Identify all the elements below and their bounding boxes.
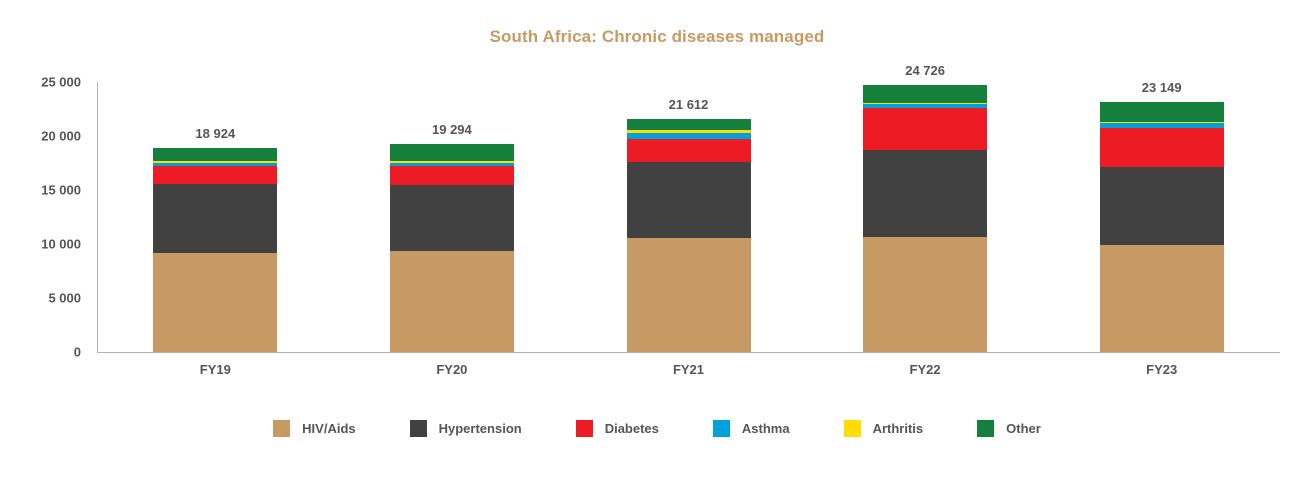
y-axis-tick-label: 5 000 [0,291,81,306]
y-axis-tick-label: 15 000 [0,183,81,198]
legend-item-asthma[interactable]: Asthma [713,420,790,437]
bar-segment-other[interactable] [153,148,277,161]
bar-group: 21 612 [627,82,751,352]
bar-segment-other[interactable] [1100,102,1224,122]
stacked-bar[interactable] [1100,102,1224,352]
stacked-bar[interactable] [627,119,751,352]
bar-segment-hypertension[interactable] [153,184,277,253]
legend-item-hiv-aids[interactable]: HIV/Aids [273,420,355,437]
bar-segment-hiv-aids[interactable] [153,253,277,352]
legend-label-hiv-aids: HIV/Aids [302,421,355,436]
bar-total-label: 21 612 [669,97,709,112]
bar-segment-diabetes[interactable] [863,108,987,150]
legend-swatch-asthma [713,420,730,437]
legend-label-diabetes: Diabetes [605,421,659,436]
bar-segment-other[interactable] [390,144,514,161]
x-axis-label-fy19: FY19 [97,362,334,377]
bar-segment-diabetes[interactable] [627,139,751,162]
stacked-bar[interactable] [390,144,514,352]
bar-group: 19 294 [390,82,514,352]
bar-segment-other[interactable] [863,85,987,103]
legend-item-arthritis[interactable]: Arthritis [844,420,924,437]
bar-total-label: 23 149 [1142,80,1182,95]
bar-group: 24 726 [863,82,987,352]
legend-label-other: Other [1006,421,1041,436]
bar-segment-hypertension[interactable] [390,185,514,251]
bar-segment-hiv-aids[interactable] [1100,245,1224,352]
x-axis-label-fy22: FY22 [807,362,1044,377]
bar-total-label: 18 924 [195,126,235,141]
bar-total-label: 24 726 [905,63,945,78]
bar-segment-hiv-aids[interactable] [863,237,987,352]
x-axis-label-fy23: FY23 [1043,362,1280,377]
bar-segment-diabetes[interactable] [390,166,514,184]
chart-legend: HIV/AidsHypertensionDiabetesAsthmaArthri… [0,420,1314,437]
bar-segment-hypertension[interactable] [1100,167,1224,245]
legend-swatch-hiv-aids [273,420,290,437]
chart-title: South Africa: Chronic diseases managed [0,27,1314,47]
bar-segment-other[interactable] [627,119,751,130]
legend-swatch-arthritis [844,420,861,437]
bar-group: 18 924 [153,82,277,352]
y-axis-tick-label: 10 000 [0,237,81,252]
bar-total-label: 19 294 [432,122,472,137]
legend-item-diabetes[interactable]: Diabetes [576,420,659,437]
y-axis-tick-label: 20 000 [0,129,81,144]
y-axis-tick-label: 0 [0,345,81,360]
bar-group: 23 149 [1100,82,1224,352]
legend-item-hypertension[interactable]: Hypertension [410,420,522,437]
bar-segment-hypertension[interactable] [863,150,987,237]
legend-item-other[interactable]: Other [977,420,1041,437]
bar-segment-diabetes[interactable] [1100,128,1224,167]
stacked-bar[interactable] [863,85,987,352]
x-axis-label-fy21: FY21 [570,362,807,377]
legend-label-arthritis: Arthritis [873,421,924,436]
bar-segment-diabetes[interactable] [153,166,277,184]
y-axis-tick-label: 25 000 [0,75,81,90]
x-axis-label-fy20: FY20 [334,362,571,377]
legend-swatch-hypertension [410,420,427,437]
plot-area: 18 92419 29421 61224 72623 149 [97,82,1280,352]
legend-label-hypertension: Hypertension [439,421,522,436]
stacked-bar[interactable] [153,148,277,352]
x-axis-line [97,352,1280,353]
legend-swatch-diabetes [576,420,593,437]
bar-segment-hiv-aids[interactable] [390,251,514,352]
chart-container: South Africa: Chronic diseases managed 0… [0,0,1314,478]
bar-segment-hypertension[interactable] [627,162,751,238]
legend-label-asthma: Asthma [742,421,790,436]
bar-segment-hiv-aids[interactable] [627,238,751,352]
legend-swatch-other [977,420,994,437]
